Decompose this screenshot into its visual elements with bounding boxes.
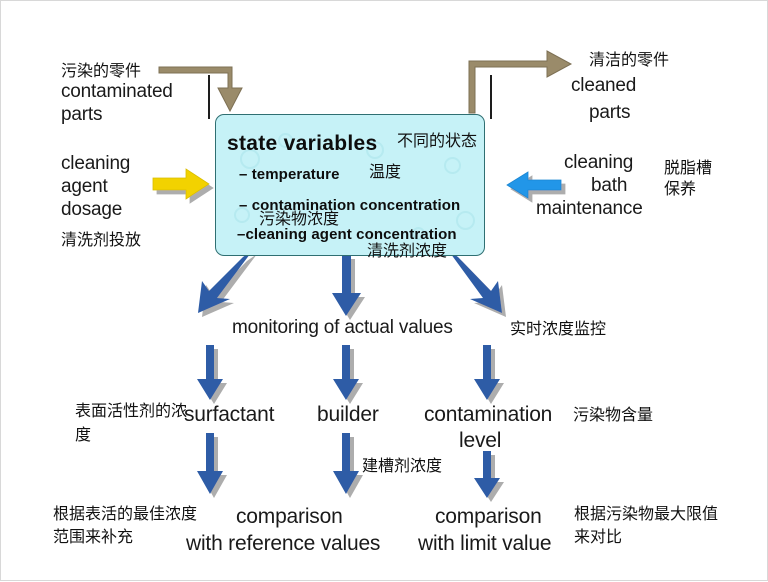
tank-wall-left bbox=[208, 75, 210, 119]
contaminated-parts-label-line1: contaminated bbox=[61, 81, 173, 102]
branch-label-contamination-line1: contamination bbox=[424, 403, 552, 427]
tank-to-monitoring-arrows bbox=[198, 250, 502, 316]
parts-out-arrow bbox=[469, 51, 571, 113]
result-surfactant-line2: with reference values bbox=[186, 532, 380, 556]
builder-cn-line1: 建槽剂浓度 bbox=[362, 456, 442, 475]
result-contamination-cn-line2: 来对比 bbox=[574, 527, 622, 546]
contamination-cn-line1: 污染物含量 bbox=[573, 405, 653, 424]
dosage-arrow bbox=[153, 169, 209, 199]
contaminated-parts-label-cn: 污染的零件 bbox=[61, 61, 141, 80]
maintenance-label-line2: bath bbox=[591, 175, 627, 196]
tank-variable-temperature: – temperature bbox=[239, 167, 340, 184]
maintenance-label-cn-line2: 保养 bbox=[664, 179, 696, 198]
branch-label-builder: builder bbox=[317, 403, 379, 427]
dosage-label-line1: cleaning bbox=[61, 153, 130, 174]
maintenance-label-line3: maintenance bbox=[536, 198, 643, 219]
result-contamination-cn-line1: 根据污染物最大限值 bbox=[574, 504, 718, 523]
tank-heading-cn: 不同的状态 bbox=[397, 131, 477, 150]
cleaned-parts-label-line1: cleaned bbox=[571, 75, 636, 96]
diagram-canvas: state variables 不同的状态 – temperature 温度 –… bbox=[1, 1, 767, 580]
result-surfactant-cn-line2: 范围来补充 bbox=[53, 527, 133, 546]
cleaned-parts-label-cn: 清洁的零件 bbox=[589, 50, 669, 69]
result-surfactant-cn-line1: 根据表活的最佳浓度 bbox=[53, 504, 197, 523]
maintenance-arrow bbox=[507, 172, 561, 198]
maintenance-label-line1: cleaning bbox=[564, 152, 633, 173]
tank-wall-right bbox=[490, 75, 492, 119]
branch-label-contamination-line2: level bbox=[459, 429, 501, 453]
result-surfactant-line1: comparison bbox=[236, 505, 343, 529]
dosage-label-line2: agent bbox=[61, 176, 108, 197]
branch-to-result-arrows bbox=[197, 433, 500, 498]
surfactant-cn-line1: 表面活性剂的浓 bbox=[75, 401, 187, 420]
contaminated-parts-label-line2: parts bbox=[61, 104, 102, 125]
monitoring-label: monitoring of actual values bbox=[232, 317, 453, 338]
tank-variable-agent-conc-cn: 清洗剂浓度 bbox=[367, 241, 447, 260]
cleaned-parts-label-line2: parts bbox=[589, 102, 630, 123]
dosage-label-line3: dosage bbox=[61, 199, 122, 220]
tank-variable-temperature-cn: 温度 bbox=[369, 162, 401, 181]
dosage-label-cn: 清洗剂投放 bbox=[61, 230, 141, 249]
monitoring-to-branch-arrows bbox=[197, 345, 500, 400]
maintenance-label-cn-line1: 脱脂槽 bbox=[664, 158, 712, 177]
surfactant-cn-line2: 度 bbox=[75, 425, 91, 444]
tank-heading: state variables bbox=[227, 132, 377, 156]
monitoring-label-cn: 实时浓度监控 bbox=[510, 319, 606, 338]
result-contamination-line1: comparison bbox=[435, 505, 542, 529]
result-contamination-line2: with limit value bbox=[418, 532, 551, 556]
branch-label-surfactant: surfactant bbox=[184, 403, 274, 427]
